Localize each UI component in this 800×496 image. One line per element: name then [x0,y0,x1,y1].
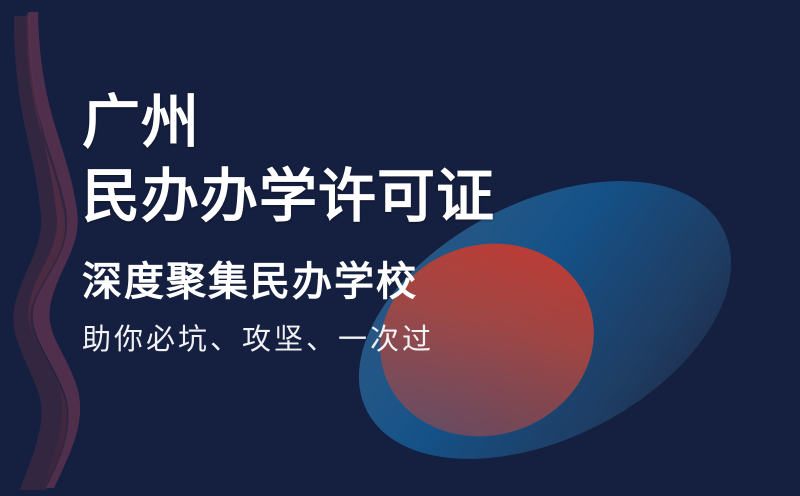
subtitle: 深度聚集民办学校 [82,256,562,308]
tagline: 助你必坑、攻坚、一次过 [82,320,562,360]
promo-banner: 广州 民办办学许可证 深度聚集民办学校 助你必坑、攻坚、一次过 [0,0,800,496]
headline-line-2: 民办办学许可证 [82,160,562,234]
banner-text-block: 广州 民办办学许可证 深度聚集民办学校 助你必坑、攻坚、一次过 [82,86,562,360]
headline-line-1: 广州 [82,86,562,160]
wave-ribbon-shape [13,12,80,490]
